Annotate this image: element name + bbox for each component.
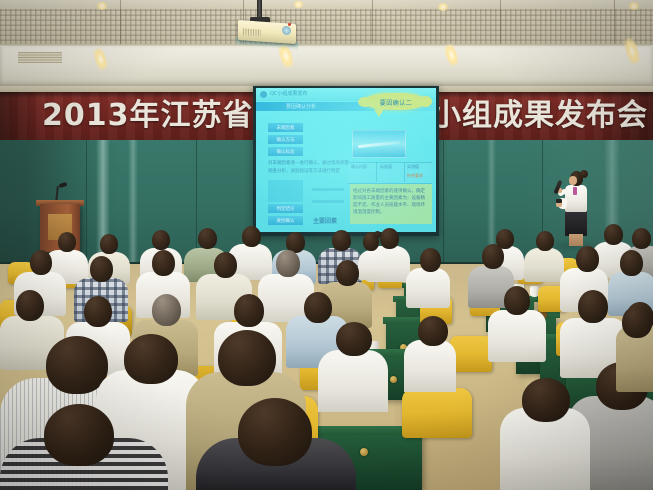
downlight-icon (96, 2, 108, 10)
table-top (383, 317, 423, 324)
ceiling-seam (500, 0, 501, 46)
presenter-skirt (565, 210, 587, 236)
slide-table-header-2: 实测值 (407, 164, 419, 170)
slide-table-note: 符合要求 (407, 173, 423, 179)
slide-body-text-1: 对末端因素逐一进行确认，通过现场测量、 (268, 160, 354, 166)
slide-conclusion-text: 经过对各末端因素的逐项确认，确定影响施工质量的主要因素为：设备精度不足、作业人员… (353, 187, 429, 215)
projector-lens (282, 26, 291, 36)
slide-connector (312, 188, 344, 191)
projection-screen[interactable]: QC小组成果发布 要因确认分析 要因确认二 末端因素 确认方法 确认标准 对末端… (256, 88, 436, 232)
slide-body-text-2: 调查分析、试验验证等方法进行判定 (268, 168, 340, 174)
presenter-neck-tie (573, 187, 577, 195)
slide-callout-text: 要因确认二 (368, 98, 424, 107)
banner-text-left: 2013年江苏省交 (42, 95, 285, 137)
table-skirt-button (360, 448, 368, 456)
slide-chip: 确认方法 (268, 135, 303, 144)
backdrop-reflection (128, 140, 138, 268)
projector-vent (243, 28, 261, 36)
slide-chip2: 判定结论 (268, 204, 303, 213)
slide-chip2: 要因确认 (268, 216, 303, 225)
backdrop-seam (443, 140, 444, 268)
downlight-icon (628, 2, 640, 10)
table-skirt-button (390, 376, 397, 383)
presenter-hair-bun (580, 170, 588, 178)
projector-indicator-light (288, 23, 291, 26)
presentation-clicker-icon (556, 199, 562, 203)
slide-table-header-0: 确认内容 (351, 164, 367, 170)
downlight-icon (437, 3, 449, 11)
slide-table-header-1: 标准值 (380, 164, 392, 170)
slide-chip: 确认标准 (268, 147, 303, 156)
air-vent-grille (18, 52, 62, 63)
chair-foreground[interactable] (402, 388, 472, 438)
ceiling-seam (120, 0, 121, 46)
banner-text-right: 小组成果发布会 (431, 95, 648, 137)
slide-chip: 末端因素 (268, 123, 303, 132)
backdrop-seam (86, 140, 87, 268)
slide-callout-tail (374, 109, 384, 117)
slide-connector (312, 200, 344, 203)
slide-photo-thumbnail (352, 130, 406, 158)
slide-matrix-box (268, 180, 303, 202)
presenter-legs (569, 234, 583, 246)
ceiling-seam (614, 0, 615, 46)
presenter-face (569, 176, 577, 185)
soffit-edge (0, 44, 653, 47)
chair[interactable] (450, 336, 492, 372)
slide-footer-label: 主要因素 (313, 216, 337, 225)
downlight-icon (293, 1, 304, 8)
slide-band-text: 要因确认分析 (286, 103, 316, 110)
conference-hall-photo: 2013年江苏省交 小组成果发布会 QC小组成果发布 要因确认分析 要因确认二 … (0, 0, 653, 490)
slide-table-divider (376, 162, 377, 182)
ceiling-seam (372, 0, 373, 46)
slide-logo-icon (260, 91, 267, 98)
slide-table-divider (404, 162, 405, 182)
slide-header-title: QC小组成果发布 (270, 90, 307, 97)
